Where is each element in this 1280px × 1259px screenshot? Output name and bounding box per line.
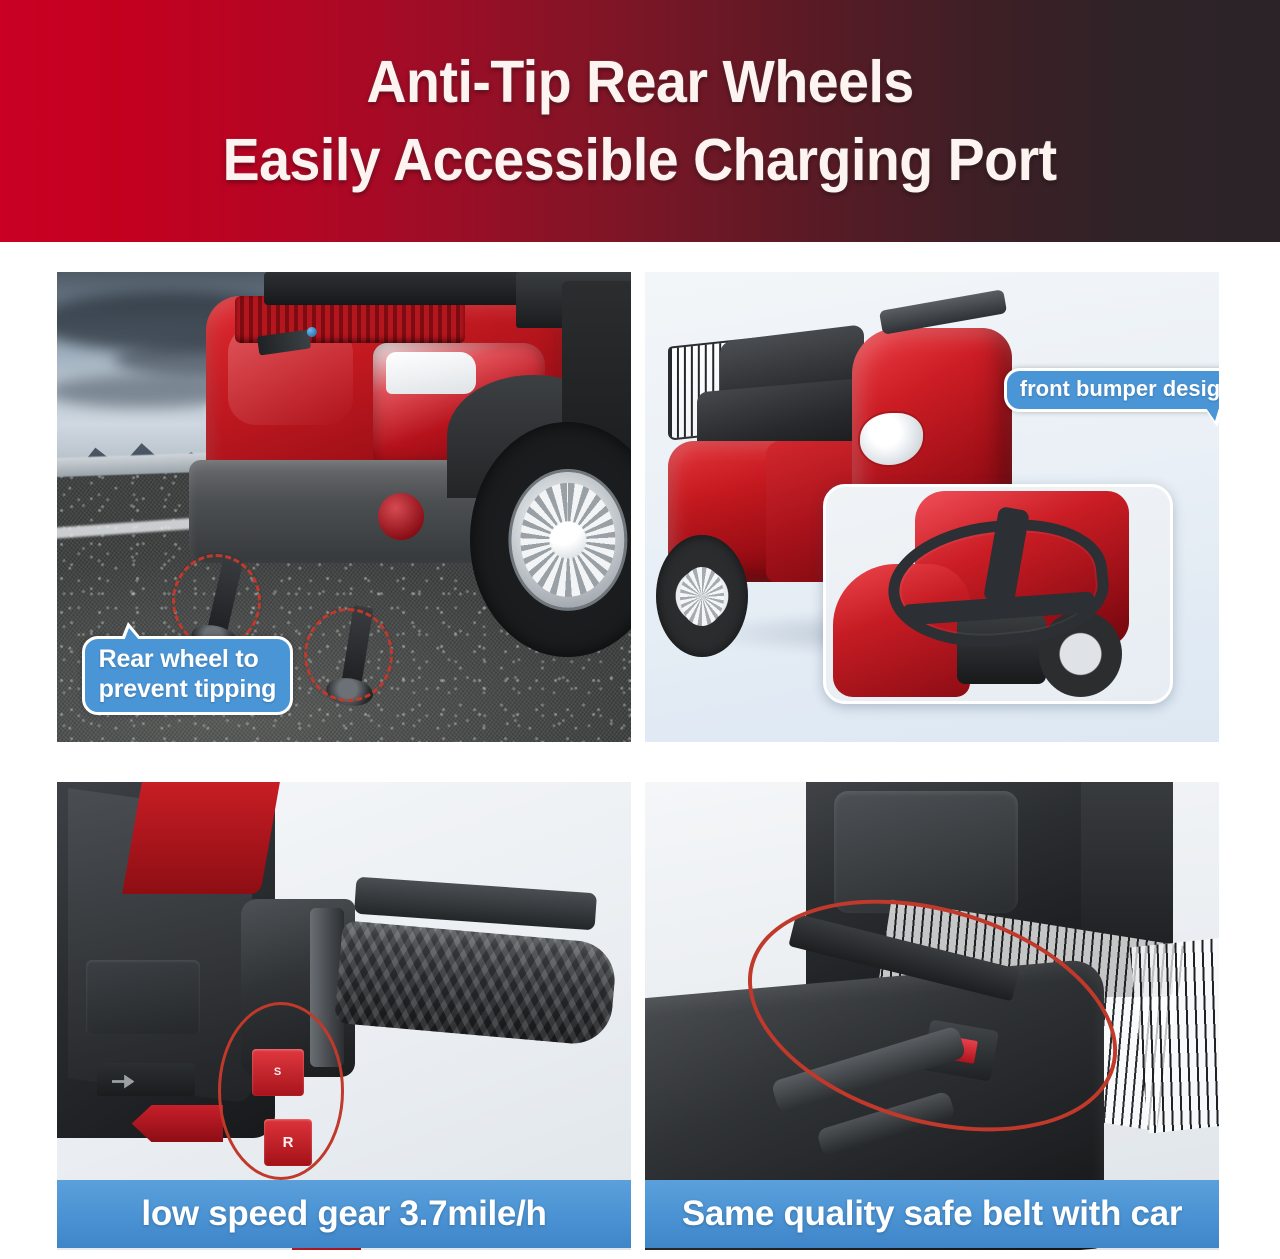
rear-wheel xyxy=(656,535,748,657)
callout-line-2: prevent tipping xyxy=(99,675,277,705)
callout-line-1: Rear wheel to xyxy=(99,645,277,675)
panel-front-bumper: front bumper design xyxy=(645,272,1219,742)
handlebar-grip xyxy=(334,920,617,1047)
console-red-trim xyxy=(122,782,280,894)
bumper-reflector xyxy=(378,493,424,540)
console-plate xyxy=(86,960,201,1035)
highlight-circle-caster-right xyxy=(304,608,393,702)
header-title-line-2: Easily Accessible Charging Port xyxy=(223,123,1057,197)
product-feature-banner: Anti-Tip Rear Wheels Easily Accessible C… xyxy=(0,0,1280,1259)
callout-front-bumper: front bumper design xyxy=(1004,368,1219,412)
feature-panel-grid: Rear wheel to prevent tipping xyxy=(57,272,1219,1250)
console-slot xyxy=(97,1063,195,1096)
brake-lever xyxy=(354,877,597,931)
caption-safety-belt: Same quality safe belt with car xyxy=(645,1180,1219,1248)
caption-low-speed-gear: low speed gear 3.7mile/h xyxy=(57,1180,631,1248)
alloy-rim xyxy=(511,472,624,608)
panel-rear-wheels: Rear wheel to prevent tipping xyxy=(57,272,631,742)
front-bumper-zoom-inset xyxy=(823,484,1173,705)
header-title-line-1: Anti-Tip Rear Wheels xyxy=(366,45,913,119)
banner-header: Anti-Tip Rear Wheels Easily Accessible C… xyxy=(0,0,1280,242)
callout-rear-wheel: Rear wheel to prevent tipping xyxy=(82,636,294,715)
highlight-circle-caster-left xyxy=(172,554,261,648)
backrest-pad xyxy=(834,791,1018,913)
highlight-circle-gear-switches xyxy=(218,1002,344,1180)
